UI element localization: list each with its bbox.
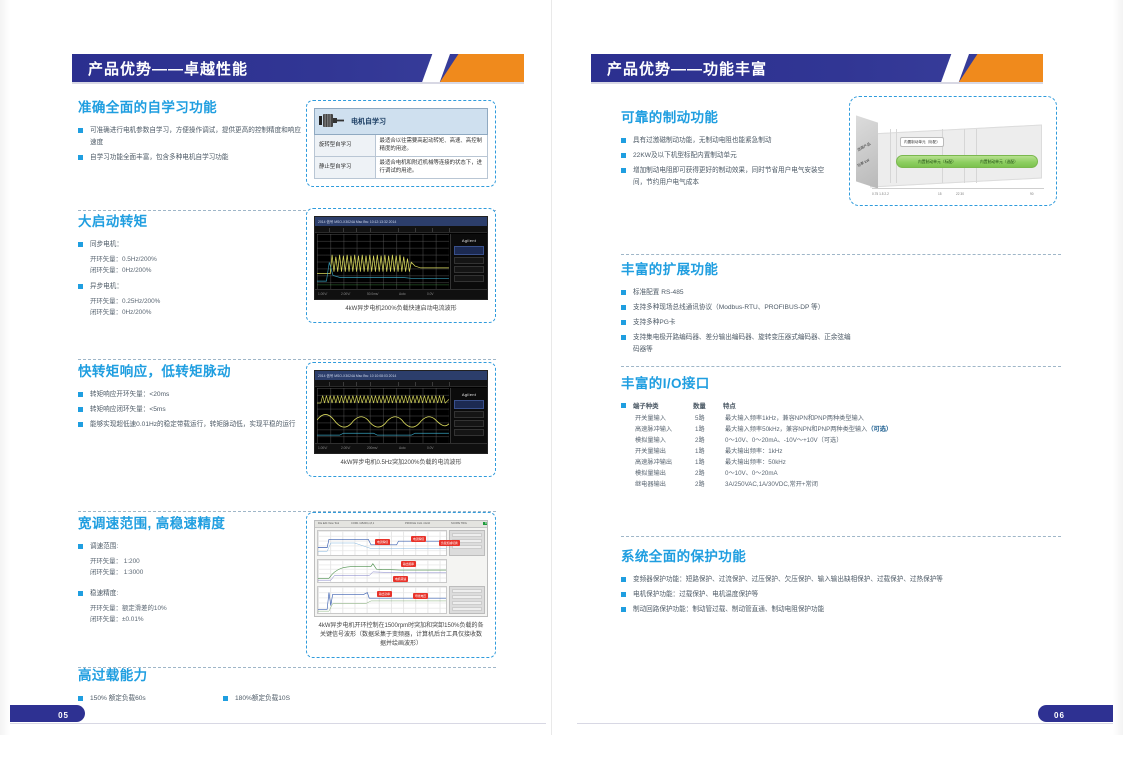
list-item: 具有过激磁制动功能，无制动电阻也能紧急制动	[621, 135, 836, 147]
io-cell-type: 模拟量输入	[635, 435, 695, 446]
analyzer-plot-2	[317, 559, 447, 583]
section-self-learning-text: 准确全面的自学习功能 可准确进行电机参数自学习，方便操作调试，提供更高的控制精度…	[78, 96, 304, 167]
chart-bar-label-optional: 内置制动单元（选配）	[980, 160, 1018, 165]
annotation-tag: 输出频率	[401, 561, 416, 567]
table-cell-value: 最适合电机和附近机械等连接的状态下，进行调试的用途。	[375, 157, 487, 179]
table-row: 静止型自学习 最适合电机和附近机械等连接的状态下，进行调试的用途。	[315, 157, 488, 179]
spec-line: 开环矢量：额定滑差的10%	[78, 603, 304, 614]
scope-menubar	[315, 226, 487, 233]
banner-underline	[591, 82, 1043, 84]
io-cell-type: 高速脉冲输出	[635, 457, 695, 468]
section-torque-response-text: 快转矩响应，低转矩脉动 转矩响应开环矢量：<20ms 转矩响应闭环矢量：<5ms…	[78, 360, 304, 434]
banner-left: 产品优势——卓越性能	[72, 54, 524, 82]
annotation-tag: 电流瞬值	[411, 536, 426, 542]
chart-bar-label-standard: 内置制动单元（标配）	[918, 160, 956, 165]
analyzer-side-row	[452, 607, 482, 611]
section-divider	[621, 254, 1061, 255]
figure-caption-1: 4kW异步电机200%负载快速启动电流波形	[314, 300, 488, 315]
analyzer-toolbar: File Edit View Tool COM1 115200,n,8,1 PR…	[315, 521, 487, 528]
list-item: 异步电机：	[78, 281, 304, 293]
list-item: 变频器保护功能：短路保护、过流保护、过压保护、欠压保护、输入输出缺相保护、过载保…	[621, 574, 1081, 586]
scope-measurement-box	[454, 420, 484, 427]
figure-frame: 2014 信号 MSO-X3024A Mso Bw: 10:12:13:32 2…	[306, 208, 496, 323]
bullet-list-overload-2: 180%额定负载10S	[223, 693, 423, 708]
annotation-tag: 母线电压	[413, 593, 428, 599]
list-item: 支持多种PG卡	[621, 317, 1001, 329]
list-item: 180%额定负载10S	[223, 693, 423, 705]
list-item: 标准配置 RS-485	[621, 287, 1001, 299]
section-start-torque-text: 大启动转矩 同步电机： 开环矢量：0.5Hz/200% 闭环矢量：0Hz/200…	[78, 210, 304, 318]
io-cell-feature: 最大输出频率：1kHz	[725, 446, 1041, 457]
list-item: 制动回路保护功能：制动管过载、制动管直通、制动电阻保护功能	[621, 604, 1081, 616]
io-cell-feature: 最大输入频率50kHz，兼容NPN和PNP两种类型输入（可选）	[725, 424, 1041, 435]
section-io: 丰富的I/O接口 端子种类 数量 特点 开关量输入 5路 最大输入频率1kHz，…	[621, 372, 1041, 490]
section-protection: 系统全面的保护功能 变频器保护功能：短路保护、过流保护、过压保护、欠压保护、输入…	[621, 545, 1081, 619]
figure-caption-3: 4kW异步电机开环控制在1500rpm时突加和突卸150%负载的各关键信号波形（…	[314, 617, 488, 650]
analyzer-side-row	[452, 533, 482, 537]
list-item: 转矩响应开环矢量：<20ms	[78, 389, 304, 401]
scope-measurement-box	[454, 266, 484, 273]
toolbar-text: COM1 115200,n,8,1	[351, 522, 374, 525]
io-feature-text: 最大输入频率50kHz，兼容NPN和PNP两种类型输入	[725, 426, 867, 433]
table-cell-value: 最适合以往需要高起动转矩、高速、高控制精度的用途。	[375, 135, 487, 157]
scope-measurement-box	[454, 400, 484, 409]
footer-rule-left	[10, 723, 546, 724]
scope-brand-label: Agilent	[451, 392, 487, 397]
list-item: 电机保护功能：过载保护、电机温度保护等	[621, 589, 1081, 601]
scope-brand-label: Agilent	[451, 238, 487, 243]
section-title-speed-range: 宽调速范围, 高稳速精度	[78, 512, 304, 532]
section-title-torque-response: 快转矩响应，低转矩脉动	[78, 360, 304, 380]
section-expansion: 丰富的扩展功能 标准配置 RS-485 支持多种现场总线通讯协议（Modbus-…	[621, 258, 1001, 359]
io-cell-feature: 最大输出频率：50kHz	[725, 457, 1041, 468]
bullet-list-torque-response: 转矩响应开环矢量：<20ms 转矩响应闭环矢量：<5ms 能够实现超低速0.01…	[78, 389, 304, 431]
spec-line: 开环矢量： 1:200	[78, 556, 304, 567]
annotation-tag: 电流瞬值	[375, 539, 390, 545]
analyzer-side-row	[452, 589, 482, 593]
section-title-start-torque: 大启动转矩	[78, 210, 304, 230]
io-cell-type: 开关量输入	[635, 413, 695, 424]
io-col-header-type: 端子种类	[633, 401, 693, 410]
table-row: 继电器输出 2路 3A/250VAC,1A/30VDC,常开+常闭	[621, 479, 1041, 490]
chart-callout: 内置制动单元（标配）	[900, 137, 944, 147]
io-cell-feature: 3A/250VAC,1A/30VDC,常开+常闭	[725, 479, 1041, 490]
spec-line: 闭环矢量： 1:3000	[78, 567, 304, 578]
footer-rule-right	[577, 723, 1113, 724]
table-header-cell: 电机自学习	[315, 109, 488, 135]
toolbar-text: PROFILE CH1..CH10	[405, 522, 430, 525]
scope-measurement-box	[454, 275, 484, 282]
table-row: 高速脉冲输入 1路 最大输入频率50kHz，兼容NPN和PNP两种类型输入（可选…	[621, 424, 1041, 435]
list-item: 支持集电极开路编码器、差分输出编码器、旋转变压器式编码器、正余弦编码器等	[621, 332, 856, 355]
brochure-spread: 产品优势——卓越性能 准确全面的自学习功能 可准确进行电机参数自学习，方便操作调…	[0, 0, 1123, 763]
spec-line: 闭环矢量：0Hz/200%	[78, 307, 304, 318]
figure-self-learning: 电机自学习 旋转型自学习 最适合以往需要高起动转矩、高速、高控制精度的用途。 静…	[306, 100, 496, 187]
banner-right: 产品优势——功能丰富	[591, 54, 1043, 82]
list-item: 150% 额定负载60s	[78, 693, 223, 705]
scope-waveform-2	[317, 388, 449, 443]
banner-underline	[72, 82, 524, 84]
table-row: 模拟量输入 2路 0～10V、0～20mA、-10V～+10V（可选）	[621, 435, 1041, 446]
section-title-braking: 可靠的制动功能	[621, 106, 836, 126]
scope-side-panel: Agilent	[450, 234, 487, 289]
io-cell-count: 2路	[695, 479, 725, 490]
chart-tick-label: 22 30	[956, 192, 964, 196]
list-item: 增加制动电阻即可获得更好的制动效果，同时节省用户电气安装空间，节约用户电气成本	[621, 165, 836, 188]
table-row: 开关量输入 5路 最大输入频率1kHz，兼容NPN和PNP两种类型输入	[621, 413, 1041, 424]
table-row: 模拟量输出 2路 0～10V、0～20mA	[621, 468, 1041, 479]
spec-line: 闭环矢量：0Hz/200%	[78, 265, 304, 276]
io-cell-count: 1路	[695, 457, 725, 468]
io-cell-feature: 0～10V、0～20mA、-10V～+10V（可选）	[725, 435, 1041, 446]
figure-frame: 电机自学习 旋转型自学习 最适合以往需要高起动转矩、高速、高控制精度的用途。 静…	[306, 100, 496, 187]
section-title-expansion: 丰富的扩展功能	[621, 258, 1001, 278]
list-item: 支持多种现场总线通讯协议（Modbus-RTU、PROFIBUS-DP 等）	[621, 302, 1001, 314]
scope-topbar: 2014 信号 MSO-X3024A Mso Bw: 10 10:08:03 2…	[315, 371, 487, 380]
figure-braking: 适用产品 功率 kW 内置制动单元（标配） 内置制动单元（标配） 内置制动单元（…	[849, 96, 1057, 206]
annotation-tag: 负载加减切换	[439, 540, 460, 546]
io-cell-feature: 最大输入频率1kHz，兼容NPN和PNP两种类型输入	[725, 413, 1041, 424]
list-item: 调速范围:	[78, 541, 304, 553]
scope-side-panel: Agilent	[450, 388, 487, 443]
analyzer-side-row	[452, 601, 482, 605]
bullet-list-start-torque-2: 异步电机：	[78, 281, 304, 293]
figure-frame: File Edit View Tool COM1 115200,n,8,1 PR…	[306, 512, 496, 658]
list-item: 转矩响应闭环矢量：<5ms	[78, 404, 304, 416]
bullet-list-speed-range: 调速范围:	[78, 541, 304, 553]
bullet-list-speed-accuracy: 稳速精度:	[78, 588, 304, 600]
bullet-list-expansion: 标准配置 RS-485 支持多种现场总线通讯协议（Modbus-RTU、PROF…	[621, 287, 1001, 355]
section-title-protection: 系统全面的保护功能	[621, 545, 1081, 565]
table-cell-key: 旋转型自学习	[315, 135, 376, 157]
oscilloscope-screenshot-1: 2014 信号 MSO-X3024A Mso Bw: 10:12:13:32 2…	[314, 216, 488, 300]
list-item: 可准确进行电机参数自学习，方便操作调试，提供更高的控制精度和响应速度	[78, 125, 304, 148]
chart-tick-label: 15	[938, 192, 942, 196]
signal-analyzer-screenshot: File Edit View Tool COM1 115200,n,8,1 PR…	[314, 520, 488, 617]
scope-measurement-box	[454, 246, 484, 255]
section-braking-text: 可靠的制动功能 具有过激磁制动功能，无制动电阻也能紧急制动 22KW及以下机型标…	[621, 106, 836, 192]
banner-title-right: 产品优势——功能丰富	[607, 58, 767, 79]
page-edge-shadow-right	[1113, 0, 1123, 735]
toolbar-status: RUN	[483, 522, 488, 525]
section-title-io: 丰富的I/O接口	[621, 372, 1041, 392]
list-item: 22KW及以下机型标配内置制动单元	[621, 150, 836, 162]
annotation-tag: 电机转速	[393, 576, 408, 582]
section-divider	[621, 366, 1061, 367]
scope-measurement-box	[454, 429, 484, 436]
analyzer-side-panel-2	[449, 586, 485, 614]
scope-measurement-box	[454, 257, 484, 264]
io-col-header-feature: 特点	[723, 401, 1041, 410]
spec-line: 开环矢量：0.25Hz/200%	[78, 296, 304, 307]
page-number-left-label: 05	[58, 711, 69, 720]
io-feature-bold: （可选）	[867, 426, 892, 433]
table-row: 电机自学习	[315, 109, 488, 135]
section-title-overload: 高过载能力	[78, 664, 498, 684]
io-cell-type: 高速脉冲输入	[635, 424, 695, 435]
io-col-header-count: 数量	[693, 401, 723, 410]
motor-icon	[319, 114, 345, 130]
page-left: 产品优势——卓越性能 准确全面的自学习功能 可准确进行电机参数自学习，方便操作调…	[10, 0, 546, 735]
spec-line: 开环矢量：0.5Hz/200%	[78, 254, 304, 265]
oscilloscope-screenshot-2: 2014 信号 MSO-X3024A Mso Bw: 10 10:08:03 2…	[314, 370, 488, 454]
bullet-list-braking: 具有过激磁制动功能，无制动电阻也能紧急制动 22KW及以下机型标配内置制动单元 …	[621, 135, 836, 188]
scope-bottombar: 1.00V/2.00V/200ms/Auto0.0V	[315, 443, 487, 453]
motor-self-learning-table: 电机自学习 旋转型自学习 最适合以往需要高起动转矩、高速、高控制精度的用途。 静…	[314, 108, 488, 179]
list-item: 同步电机：	[78, 239, 304, 251]
figure-scope-1: 2014 信号 MSO-X3024A Mso Bw: 10:12:13:32 2…	[306, 208, 496, 323]
page-gutter	[551, 0, 552, 735]
banner-title-left: 产品优势——卓越性能	[88, 58, 248, 79]
figure-caption-2: 4kW异步电机0.5Hz突加200%负载的电流波形	[314, 454, 488, 469]
scope-measurement-box	[454, 411, 484, 418]
table-row: 高速脉冲输出 1路 最大输出频率：50kHz	[621, 457, 1041, 468]
toolbar-text: File Edit View Tool	[318, 522, 339, 525]
page-right: 产品优势——功能丰富 可靠的制动功能 具有过激磁制动功能，无制动电阻也能紧急制动…	[577, 0, 1113, 735]
io-cell-type: 继电器输出	[635, 479, 695, 490]
scope-bottombar: 1.00V/2.00V/50.0ms/Auto0.0V	[315, 289, 487, 299]
bullet-list-self-learning: 可准确进行电机参数自学习，方便操作调试，提供更高的控制精度和响应速度 自学习功能…	[78, 125, 304, 163]
table-row: 开关量输出 1路 最大输出频率：1kHz	[621, 446, 1041, 457]
list-item: 能够实现超低速0.01Hz的稳定带载运行，转矩脉动低，实现平稳的运行	[78, 419, 304, 431]
brake-range-chart: 适用产品 功率 kW 内置制动单元（标配） 内置制动单元（标配） 内置制动单元（…	[856, 103, 1050, 199]
bullet-list-overload-1: 150% 额定负载60s	[78, 693, 223, 708]
section-divider	[621, 536, 1061, 537]
toolbar-text: SCOPE TRIG	[451, 522, 467, 525]
page-number-left: 05	[10, 705, 85, 722]
list-item: 自学习功能全面丰富，包含多种电机自学习功能	[78, 152, 304, 164]
figure-frame: 适用产品 功率 kW 内置制动单元（标配） 内置制动单元（标配） 内置制动单元（…	[849, 96, 1057, 206]
io-cell-feature: 0～10V、0～20mA	[725, 468, 1041, 479]
io-table-header: 端子种类 数量 特点	[621, 401, 1041, 410]
scope-menubar	[315, 380, 487, 387]
bullet-list-start-torque: 同步电机：	[78, 239, 304, 251]
table-row: 旋转型自学习 最适合以往需要高起动转矩、高速、高控制精度的用途。	[315, 135, 488, 157]
page-number-right-label: 06	[1054, 711, 1065, 720]
section-speed-range-text: 宽调速范围, 高稳速精度 调速范围: 开环矢量： 1:200 闭环矢量： 1:3…	[78, 512, 304, 625]
io-cell-count: 5路	[695, 413, 725, 424]
section-title-self-learning: 准确全面的自学习功能	[78, 96, 304, 116]
scope-topbar: 2014 信号 MSO-X3024A Mso Bw: 10:12:13:32 2…	[315, 217, 487, 226]
io-cell-count: 2路	[695, 435, 725, 446]
analyzer-side-row	[452, 595, 482, 599]
figure-frame: 2014 信号 MSO-X3024A Mso Bw: 10 10:08:03 2…	[306, 362, 496, 477]
page-edge-shadow-left	[0, 0, 10, 735]
section-overload: 高过载能力 150% 额定负载60s 180%额定负载10S	[78, 664, 498, 708]
io-cell-count: 2路	[695, 468, 725, 479]
bullet-list-protection: 变频器保护功能：短路保护、过流保护、过压保护、欠压保护、输入输出缺相保护、过载保…	[621, 574, 1081, 616]
chart-tick-label: 0.75 1.5 2.2	[872, 192, 889, 196]
spec-line: 闭环矢量：±0.01%	[78, 614, 304, 625]
page-number-right: 06	[1038, 705, 1113, 722]
io-cell-count: 1路	[695, 446, 725, 457]
figure-trace: File Edit View Tool COM1 115200,n,8,1 PR…	[306, 512, 496, 658]
annotation-tag: 输出功率	[377, 591, 392, 597]
io-cell-count: 1路	[695, 424, 725, 435]
table-cell-key: 静止型自学习	[315, 157, 376, 179]
io-cell-type: 开关量输出	[635, 446, 695, 457]
io-cell-type: 模拟量输出	[635, 468, 695, 479]
list-item: 稳速精度:	[78, 588, 304, 600]
scope-waveform-1	[317, 234, 449, 289]
figure-scope-2: 2014 信号 MSO-X3024A Mso Bw: 10 10:08:03 2…	[306, 362, 496, 477]
table-header-label: 电机自学习	[351, 118, 386, 125]
chart-tick-label: 90	[1030, 192, 1034, 196]
chart-x-axis	[872, 188, 1044, 189]
io-feature-text: 最大输入频率1kHz，兼容NPN和PNP两种类型输入	[725, 415, 864, 422]
